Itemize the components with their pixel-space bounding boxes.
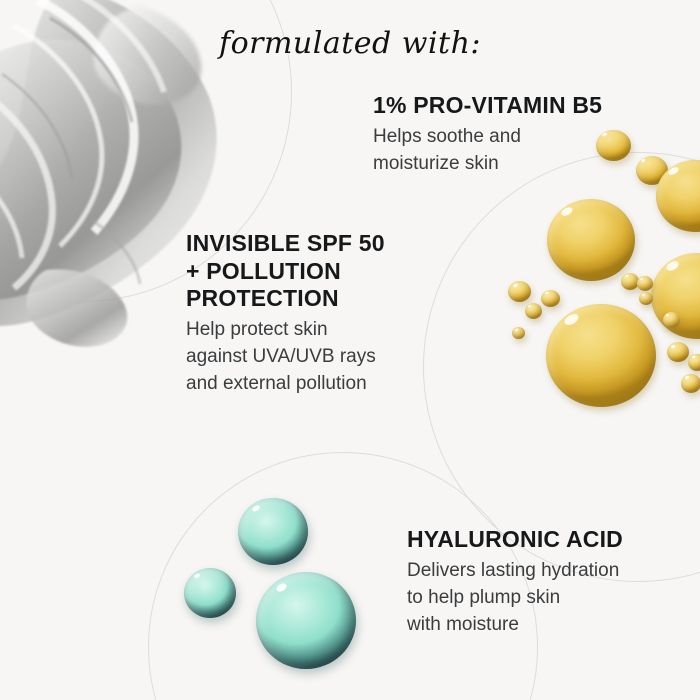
ingredient-block-hyaluronic-acid: HYALURONIC ACID Delivers lasting hydrati…: [407, 526, 692, 639]
gel-droplet: [238, 498, 308, 565]
ingredient-title: HYALURONIC ACID: [407, 526, 692, 554]
gel-droplet: [184, 568, 236, 618]
ingredient-description: Help protect skin against UVA/UVB rays a…: [186, 317, 441, 398]
oil-droplet-small: [508, 281, 531, 302]
oil-droplet-small: [637, 276, 653, 291]
infographic-canvas: formulated with: 1% PRO-VITAMIN B5 Helps…: [0, 0, 700, 700]
oil-droplet: [546, 304, 656, 407]
ingredient-title: INVISIBLE SPF 50 + POLLUTION PROTECTION: [186, 230, 441, 313]
ingredient-description: Delivers lasting hydration to help plump…: [407, 558, 692, 639]
ingredient-title: 1% PRO-VITAMIN B5: [373, 92, 673, 120]
ingredient-description: Helps soothe and moisturize skin: [373, 124, 673, 178]
oil-droplet-small: [525, 303, 542, 319]
oil-droplet-small: [681, 374, 700, 393]
oil-droplet-small: [512, 327, 525, 339]
oil-droplet-small: [541, 290, 560, 307]
ingredient-block-pro-vitamin-b5: 1% PRO-VITAMIN B5 Helps soothe and moist…: [373, 92, 673, 178]
oil-droplet-small: [663, 312, 680, 328]
oil-droplet: [547, 199, 635, 281]
gel-droplet: [256, 572, 356, 669]
ingredient-block-invisible-spf-50: INVISIBLE SPF 50 + POLLUTION PROTECTION …: [186, 230, 441, 398]
oil-droplet-small: [688, 354, 700, 371]
oil-droplet-small: [667, 342, 689, 362]
oil-droplet-small: [639, 292, 653, 305]
page-title: formulated with:: [0, 26, 700, 61]
